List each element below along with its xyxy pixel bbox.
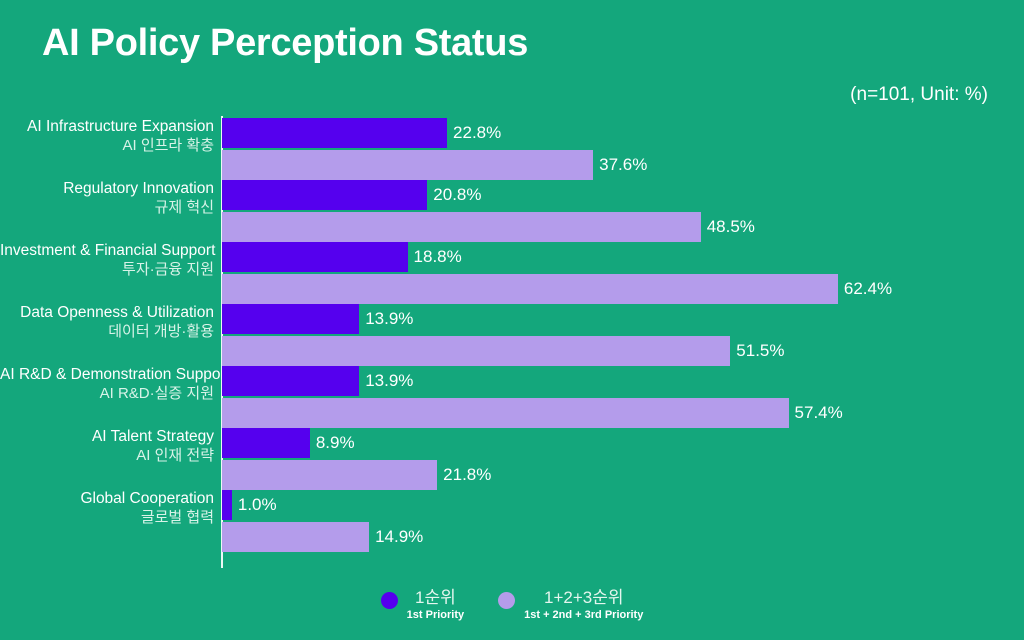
legend-label-en: 1st + 2nd + 3rd Priority — [524, 609, 643, 622]
category-group: Regulatory Innovation규제 혁신20.8%48.5% — [0, 180, 1024, 242]
category-label: AI R&D & Demonstration SupportAI R&D·실증 … — [0, 366, 214, 402]
bar-value-label: 57.4% — [789, 403, 843, 423]
bar-value-label: 51.5% — [730, 341, 784, 361]
bar-row: 57.4% — [222, 398, 789, 428]
bar-value-label: 62.4% — [838, 279, 892, 299]
category-label-ko: 투자·금융 지원 — [0, 261, 214, 278]
bar-row: 8.9% — [222, 428, 310, 458]
bar-value-label: 21.8% — [437, 465, 491, 485]
bar-secondary — [222, 460, 437, 490]
bar-row: 22.8% — [222, 118, 447, 148]
bar-secondary — [222, 274, 838, 304]
bar-value-label: 22.8% — [447, 123, 501, 143]
category-label-ko: AI R&D·실증 지원 — [0, 385, 214, 402]
bar-value-label: 18.8% — [408, 247, 462, 267]
legend-label-ko: 1+2+3순위 — [524, 588, 643, 608]
bar-value-label: 37.6% — [593, 155, 647, 175]
bar-primary — [222, 242, 408, 272]
bar-secondary — [222, 522, 369, 552]
bar-secondary — [222, 150, 593, 180]
category-label: AI Infrastructure ExpansionAI 인프라 확충 — [0, 118, 214, 154]
category-label-en: Global Cooperation — [0, 490, 214, 508]
legend-swatch-icon — [498, 592, 515, 609]
bar-primary — [222, 366, 359, 396]
category-label: Investment & Financial Support투자·금융 지원 — [0, 242, 214, 278]
category-label: Global Cooperation글로벌 협력 — [0, 490, 214, 526]
chart-legend: 1순위1st Priority1+2+3순위1st + 2nd + 3rd Pr… — [0, 588, 1024, 621]
bar-row: 1.0% — [222, 490, 232, 520]
chart-unit-note: (n=101, Unit: %) — [850, 84, 988, 106]
bar-secondary — [222, 398, 789, 428]
category-label-ko: AI 인프라 확충 — [0, 137, 214, 154]
bar-row: 13.9% — [222, 366, 359, 396]
category-label: AI Talent StrategyAI 인재 전략 — [0, 428, 214, 464]
category-label: Data Openness & Utilization데이터 개방·활용 — [0, 304, 214, 340]
legend-text: 1+2+3순위1st + 2nd + 3rd Priority — [524, 588, 643, 621]
plot-area: AI Infrastructure ExpansionAI 인프라 확충22.8… — [0, 110, 1024, 570]
bar-value-label: 13.9% — [359, 309, 413, 329]
category-label-ko: AI 인재 전략 — [0, 447, 214, 464]
bar-value-label: 8.9% — [310, 433, 355, 453]
legend-swatch-icon — [381, 592, 398, 609]
chart-title: AI Policy Perception Status — [42, 22, 528, 65]
category-group: Investment & Financial Support투자·금융 지원18… — [0, 242, 1024, 304]
category-label-ko: 규제 혁신 — [0, 199, 214, 216]
bar-primary — [222, 180, 427, 210]
legend-item[interactable]: 1+2+3순위1st + 2nd + 3rd Priority — [498, 588, 643, 621]
bar-row: 13.9% — [222, 304, 359, 334]
bar-value-label: 1.0% — [232, 495, 277, 515]
category-label-en: Data Openness & Utilization — [0, 304, 214, 322]
category-group: Data Openness & Utilization데이터 개방·활용13.9… — [0, 304, 1024, 366]
category-group: Global Cooperation글로벌 협력1.0%14.9% — [0, 490, 1024, 552]
chart-canvas: AI Policy Perception Status (n=101, Unit… — [0, 0, 1024, 640]
legend-text: 1순위1st Priority — [407, 588, 464, 621]
bar-row: 51.5% — [222, 336, 730, 366]
bar-row: 20.8% — [222, 180, 427, 210]
category-label-en: Regulatory Innovation — [0, 180, 214, 198]
category-group: AI R&D & Demonstration SupportAI R&D·실증 … — [0, 366, 1024, 428]
legend-label-en: 1st Priority — [407, 609, 464, 622]
category-label-en: AI Talent Strategy — [0, 428, 214, 446]
bar-value-label: 48.5% — [701, 217, 755, 237]
category-label-en: Investment & Financial Support — [0, 242, 214, 260]
bar-row: 21.8% — [222, 460, 437, 490]
category-group: AI Infrastructure ExpansionAI 인프라 확충22.8… — [0, 118, 1024, 180]
bar-primary — [222, 304, 359, 334]
bar-row: 62.4% — [222, 274, 838, 304]
bar-primary — [222, 428, 310, 458]
bar-row: 14.9% — [222, 522, 369, 552]
category-group: AI Talent StrategyAI 인재 전략8.9%21.8% — [0, 428, 1024, 490]
legend-item[interactable]: 1순위1st Priority — [381, 588, 464, 621]
bar-secondary — [222, 336, 730, 366]
category-label-en: AI R&D & Demonstration Support — [0, 366, 214, 384]
category-label: Regulatory Innovation규제 혁신 — [0, 180, 214, 216]
legend-label-ko: 1순위 — [407, 588, 464, 608]
bar-row: 48.5% — [222, 212, 701, 242]
bar-row: 18.8% — [222, 242, 408, 272]
bar-secondary — [222, 212, 701, 242]
category-label-en: AI Infrastructure Expansion — [0, 118, 214, 136]
category-label-ko: 데이터 개방·활용 — [0, 323, 214, 340]
bar-row: 37.6% — [222, 150, 593, 180]
bar-value-label: 20.8% — [427, 185, 481, 205]
bar-value-label: 13.9% — [359, 371, 413, 391]
bar-value-label: 14.9% — [369, 527, 423, 547]
bar-primary — [222, 118, 447, 148]
category-label-ko: 글로벌 협력 — [0, 509, 214, 526]
bar-primary — [222, 490, 232, 520]
